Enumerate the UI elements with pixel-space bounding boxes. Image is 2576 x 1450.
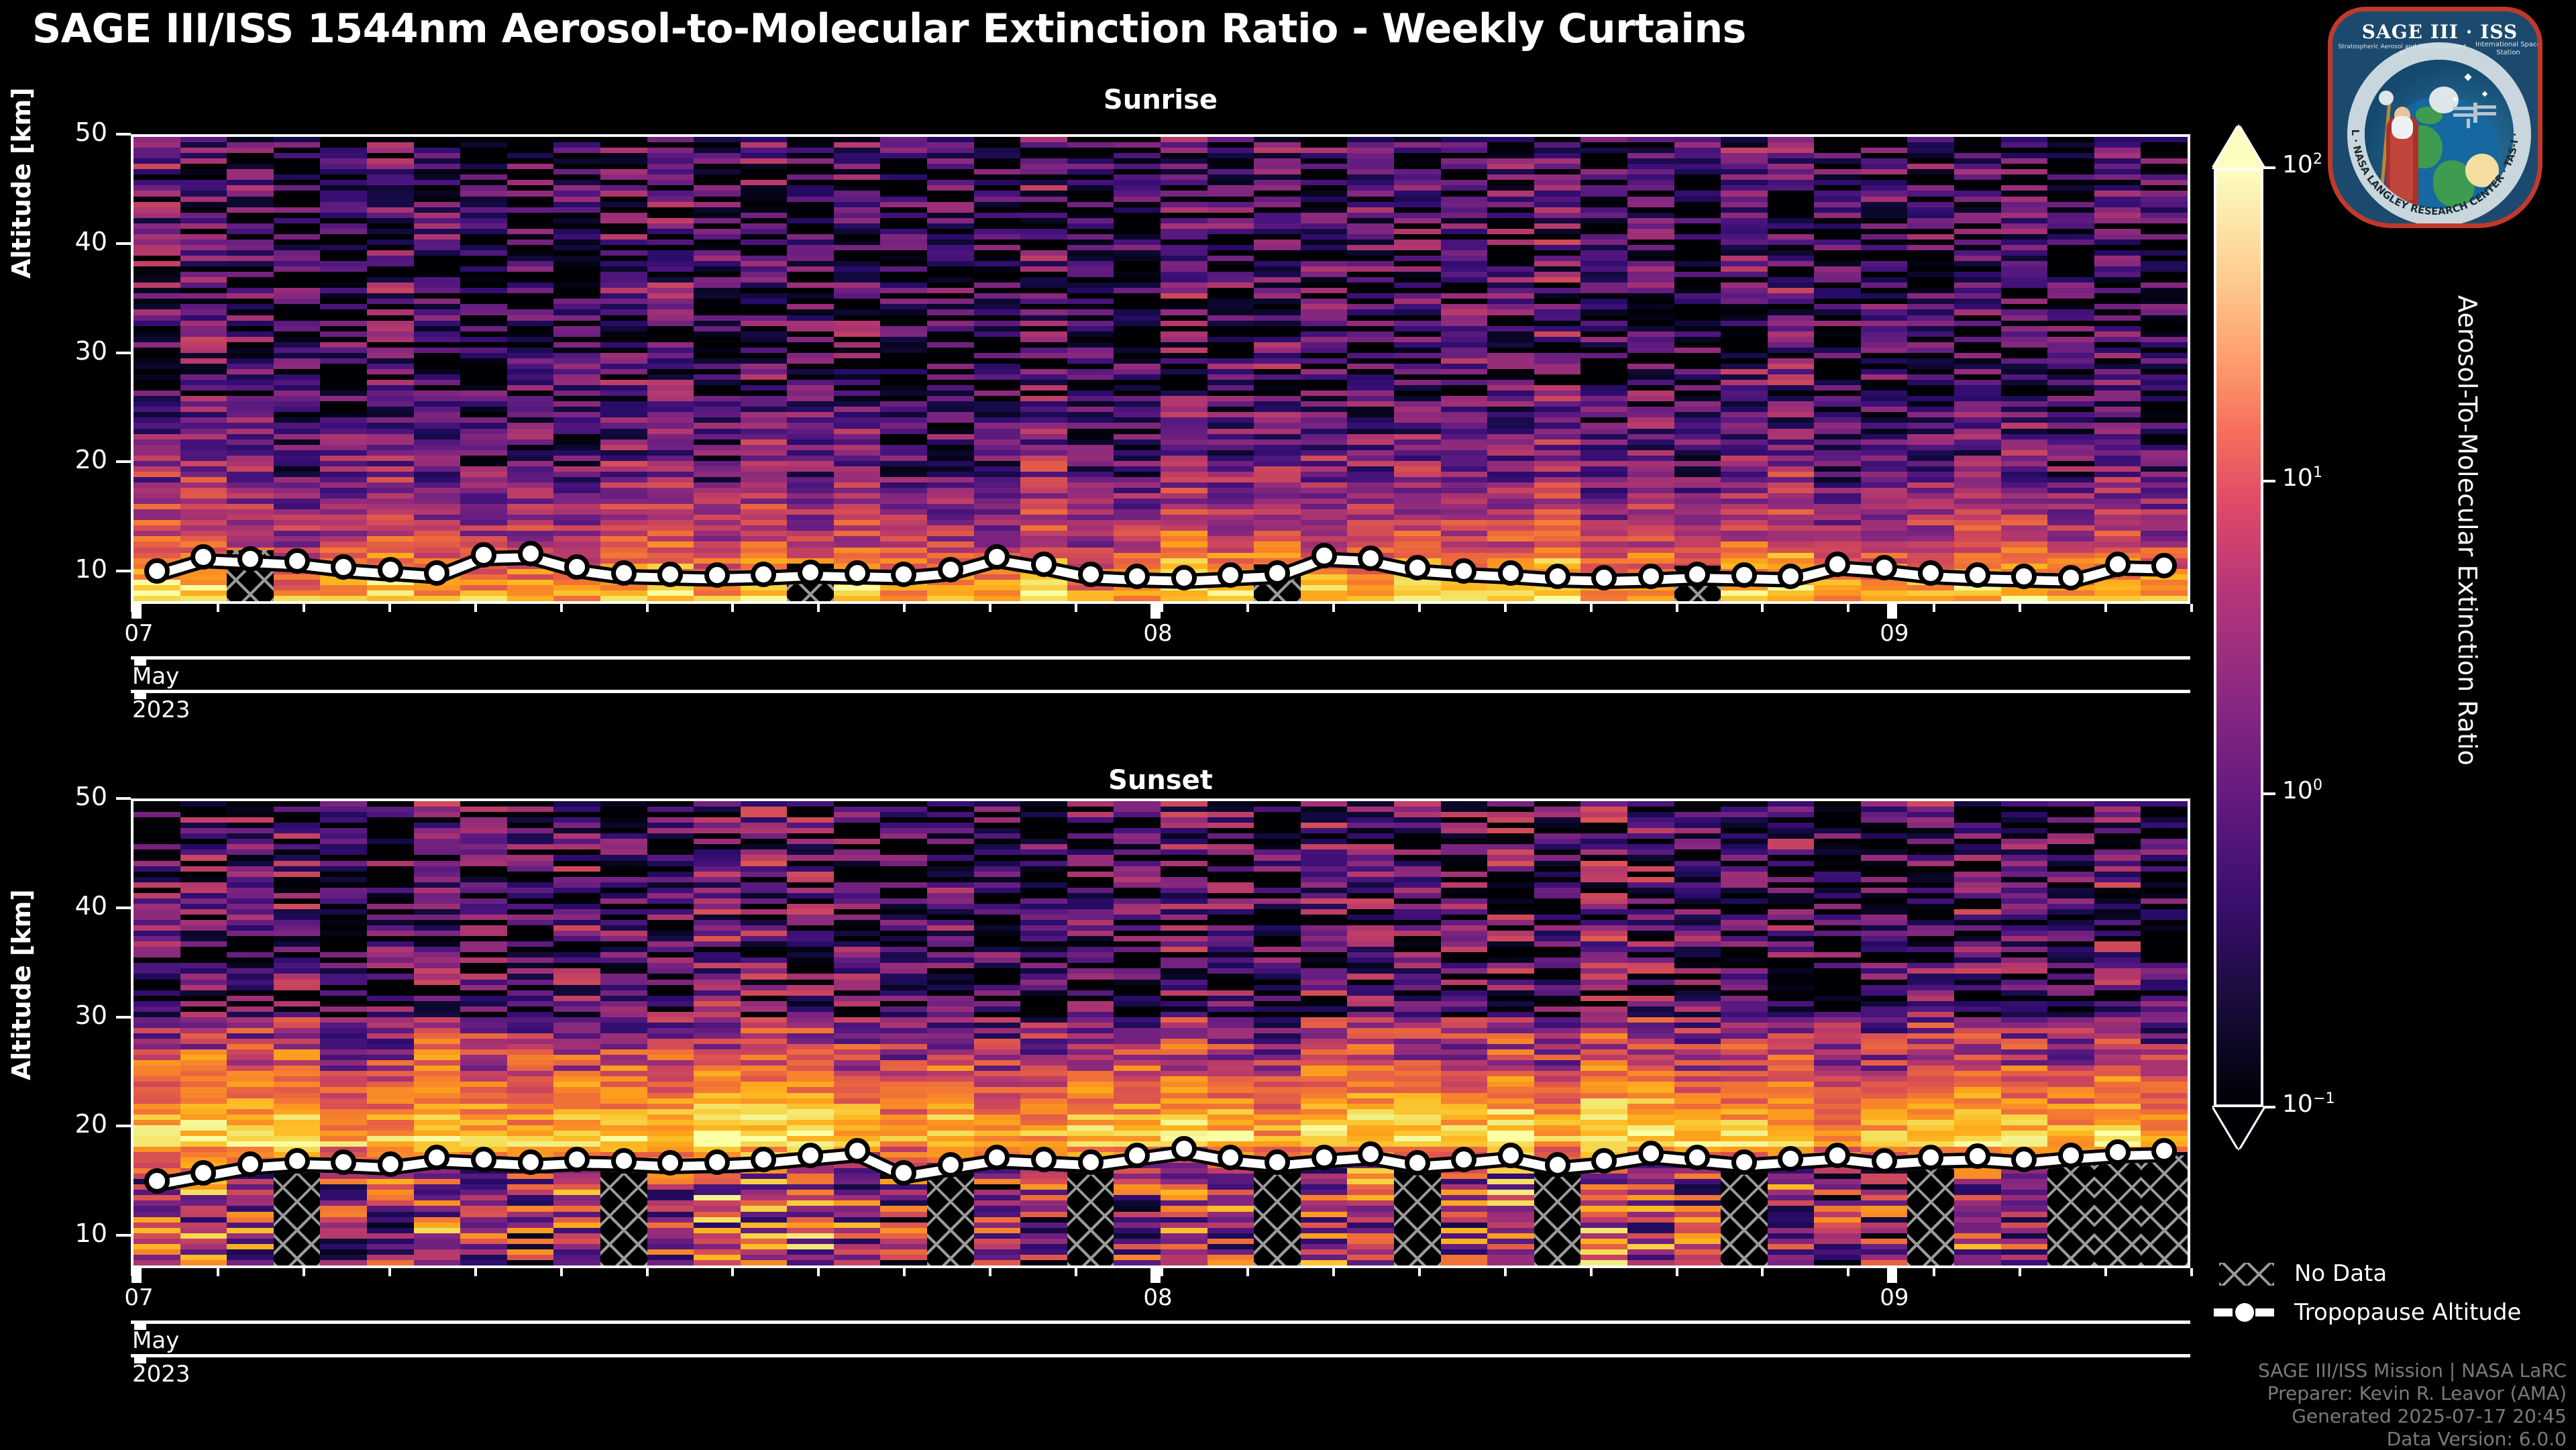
heatmap-column bbox=[1254, 137, 1301, 601]
heatmap-cell bbox=[414, 1260, 461, 1266]
tropopause-marker bbox=[331, 554, 356, 580]
heatmap-cell bbox=[880, 596, 927, 602]
heatmap-cell bbox=[1861, 596, 1908, 602]
heatmap-column bbox=[1907, 137, 1954, 601]
heatmap-cell bbox=[180, 596, 227, 602]
x-minor-tick bbox=[1075, 604, 1077, 612]
tropopause-marker bbox=[1965, 562, 1990, 588]
tropopause-marker bbox=[1451, 558, 1477, 584]
heatmap-column bbox=[320, 137, 367, 601]
y-tick-label: 40 bbox=[40, 893, 107, 919]
y-tick-mark bbox=[116, 907, 131, 909]
heatmap-cell bbox=[1114, 596, 1161, 602]
tropopause-marker bbox=[657, 562, 683, 587]
y-tick-mark bbox=[116, 1016, 131, 1019]
heatmap-cell bbox=[2001, 596, 2048, 602]
y-tick-label: 10 bbox=[40, 556, 107, 582]
heatmap-column bbox=[367, 137, 414, 601]
x-axis-group-label: 2023 bbox=[132, 696, 191, 723]
heatmap-column bbox=[1207, 137, 1254, 601]
y-tick-mark bbox=[116, 570, 131, 572]
x-tick-label: 07 bbox=[119, 620, 159, 647]
heatmap-column bbox=[507, 137, 554, 601]
heatmap-column bbox=[694, 137, 741, 601]
heatmap-column bbox=[1861, 137, 1908, 601]
heatmap-column bbox=[1161, 137, 1207, 601]
heatmap-cell bbox=[1721, 596, 1768, 602]
heatmap-column bbox=[880, 137, 927, 601]
tropopause-marker bbox=[284, 548, 310, 574]
x-tick-label: 09 bbox=[1874, 620, 1915, 647]
panel-title-sunrise: Sunrise bbox=[131, 85, 2190, 115]
heatmap-cell bbox=[647, 596, 694, 602]
y-tick-label: 20 bbox=[40, 447, 107, 472]
heatmap-cell bbox=[180, 1260, 227, 1266]
heatmap-column bbox=[1814, 137, 1861, 601]
heatmap-column bbox=[1580, 137, 1627, 601]
heatmap-column bbox=[741, 137, 788, 601]
y-tick-label: 50 bbox=[40, 784, 107, 809]
tropopause-marker bbox=[1591, 565, 1617, 590]
heatmap-column bbox=[974, 137, 1021, 601]
x-minor-tick bbox=[2019, 604, 2021, 612]
heatmap-column bbox=[1954, 137, 2001, 601]
x-minor-tick bbox=[1761, 604, 1764, 612]
heatmap-cell bbox=[133, 1260, 180, 1266]
tropopause-marker bbox=[1405, 555, 1430, 580]
tropopause-marker bbox=[471, 542, 496, 568]
heatmap-column bbox=[367, 801, 414, 1265]
heatmap-column bbox=[274, 137, 321, 601]
heatmap-cell bbox=[507, 1260, 554, 1266]
y-tick-label: 10 bbox=[40, 1221, 107, 1246]
y-tick-label: 20 bbox=[40, 1111, 107, 1137]
x-minor-tick bbox=[1504, 604, 1507, 612]
heatmap-column bbox=[2047, 137, 2094, 601]
heatmap-cell bbox=[834, 596, 881, 602]
heatmap-cell bbox=[927, 596, 974, 602]
y-tick-mark bbox=[116, 460, 131, 463]
x-minor-tick bbox=[217, 604, 219, 612]
x-minor-tick bbox=[989, 604, 991, 612]
tropopause-marker bbox=[1265, 560, 1290, 586]
x-minor-tick bbox=[474, 604, 477, 612]
tropopause-marker bbox=[1498, 560, 1523, 586]
heatmap-cell bbox=[460, 1260, 507, 1266]
y-tick-label: 30 bbox=[40, 1002, 107, 1028]
heatmap-column bbox=[2001, 137, 2048, 601]
tropopause-marker bbox=[237, 546, 263, 572]
heatmap-cell bbox=[1580, 596, 1627, 602]
no-data-region bbox=[600, 1165, 647, 1265]
heatmap-column bbox=[1487, 137, 1534, 601]
x-minor-tick bbox=[1847, 604, 1849, 612]
x-major-tick bbox=[1150, 604, 1161, 619]
tropopause-marker bbox=[1311, 543, 1337, 568]
heatmap-sunrise bbox=[131, 134, 2190, 604]
logo-partner-arc: BALL · NASA LANGLEY RESEARCH CENTER · TA… bbox=[2328, 7, 2542, 228]
heatmap-column bbox=[1347, 137, 1394, 601]
heatmap-column bbox=[1534, 137, 1581, 601]
tropopause-marker bbox=[1872, 555, 1897, 580]
heatmap-cell bbox=[1301, 596, 1348, 602]
heatmap-sunset bbox=[131, 798, 2190, 1268]
heatmap-column bbox=[1394, 137, 1441, 601]
x-minor-tick bbox=[1590, 604, 1593, 612]
heatmap-cell bbox=[2141, 596, 2188, 602]
heatmap-column bbox=[227, 137, 274, 601]
heatmap-cell bbox=[367, 596, 414, 602]
heatmap-cell bbox=[1441, 596, 1488, 602]
y-axis-label-sunrise: Altitude [km] bbox=[7, 87, 36, 278]
tropopause-marker bbox=[2105, 552, 2131, 577]
heatmap-cell bbox=[600, 596, 647, 602]
x-minor-tick bbox=[1161, 604, 1163, 612]
panel-title-sunset: Sunset bbox=[131, 765, 2190, 796]
heatmap-cell bbox=[553, 1260, 600, 1266]
tropopause-marker bbox=[1684, 562, 1710, 587]
heatmap-column bbox=[2094, 137, 2141, 601]
y-tick-label: 40 bbox=[40, 229, 107, 254]
heatmap-column bbox=[180, 801, 227, 1265]
x-axis-group-label: May bbox=[132, 663, 179, 690]
heatmap-column bbox=[320, 801, 367, 1265]
y-tick-mark bbox=[116, 352, 131, 354]
tropopause-marker bbox=[1124, 564, 1150, 589]
x-minor-tick bbox=[1332, 604, 1335, 612]
heatmap-column bbox=[2141, 137, 2188, 601]
heatmap-cell bbox=[1768, 596, 1815, 602]
tropopause-marker bbox=[378, 557, 403, 582]
tropopause-marker bbox=[144, 558, 170, 584]
tropopause-marker bbox=[1638, 564, 1664, 589]
tropopause-marker bbox=[2058, 565, 2084, 590]
heatmap-cell bbox=[694, 596, 741, 602]
heatmap-cell bbox=[1627, 596, 1674, 602]
heatmap-cell bbox=[133, 596, 180, 602]
x-minor-tick bbox=[1933, 604, 1935, 612]
heatmap-column bbox=[1674, 137, 1721, 601]
x-minor-tick bbox=[731, 604, 734, 612]
heatmap-cell bbox=[1394, 596, 1441, 602]
y-tick-label: 50 bbox=[40, 119, 107, 145]
y-tick-mark bbox=[116, 133, 131, 136]
heatmap-cell bbox=[1161, 596, 1207, 602]
x-axis-rule bbox=[131, 656, 2190, 660]
heatmap-cell bbox=[320, 1260, 367, 1266]
x-tick-label: 08 bbox=[1138, 620, 1178, 647]
x-minor-tick bbox=[817, 604, 820, 612]
heatmap-column bbox=[133, 137, 180, 601]
heatmap-cell bbox=[1907, 596, 1954, 602]
y-tick-mark bbox=[116, 1125, 131, 1127]
heatmap-cell bbox=[1954, 596, 2001, 602]
heatmap-cell bbox=[2047, 596, 2094, 602]
heatmap-column bbox=[507, 801, 554, 1265]
tropopause-marker bbox=[1545, 564, 1570, 589]
heatmap-cell bbox=[1487, 596, 1534, 602]
tropopause-marker bbox=[611, 560, 637, 586]
heatmap-cell bbox=[1067, 596, 1114, 602]
heatmap-cell bbox=[1347, 596, 1394, 602]
heatmap-column bbox=[834, 137, 881, 601]
heatmap-cell bbox=[367, 1260, 414, 1266]
tropopause-marker bbox=[1078, 562, 1104, 587]
tropopause-marker bbox=[1171, 565, 1197, 590]
heatmap-column bbox=[553, 801, 600, 1265]
tropopause-marker bbox=[518, 541, 543, 566]
heatmap-cell bbox=[320, 596, 367, 602]
heatmap-cell bbox=[1534, 596, 1581, 602]
x-minor-tick bbox=[1676, 604, 1678, 612]
x-minor-tick bbox=[303, 604, 305, 612]
tropopause-marker bbox=[1358, 546, 1383, 571]
y-tick-mark bbox=[116, 242, 131, 245]
x-major-tick bbox=[1887, 604, 1897, 619]
heatmap-cell bbox=[414, 596, 461, 602]
x-minor-tick bbox=[1246, 604, 1249, 612]
heatmap-column bbox=[1441, 137, 1488, 601]
heatmap-column bbox=[227, 801, 274, 1265]
tropopause-marker bbox=[564, 554, 590, 580]
heatmap-column bbox=[787, 137, 834, 601]
y-tick-mark bbox=[116, 797, 131, 800]
heatmap-column bbox=[553, 137, 600, 601]
heatmap-cell bbox=[741, 596, 788, 602]
tropopause-marker bbox=[1731, 562, 1757, 588]
heatmap-column bbox=[1114, 137, 1161, 601]
heatmap-column bbox=[414, 137, 461, 601]
heatmap-column bbox=[1721, 137, 1768, 601]
heatmap-column bbox=[647, 801, 694, 1265]
heatmap-cell bbox=[1020, 596, 1067, 602]
heatmap-column bbox=[600, 137, 647, 601]
sage-iss-mission-logo: SAGE III · ISS Stratospheric Aerosol and… bbox=[2321, 3, 2549, 234]
tropopause-marker bbox=[845, 560, 870, 586]
x-axis-rule bbox=[131, 690, 2190, 693]
heatmap-column bbox=[460, 137, 507, 601]
heatmap-cell bbox=[2094, 596, 2141, 602]
tropopause-marker bbox=[798, 560, 823, 585]
x-minor-tick bbox=[2190, 604, 2193, 612]
tropopause-marker bbox=[751, 562, 776, 587]
tropopause-marker bbox=[704, 562, 730, 588]
y-tick-mark bbox=[116, 1234, 131, 1237]
heatmap-cell bbox=[1207, 596, 1254, 602]
x-minor-tick bbox=[646, 604, 649, 612]
heatmap-cell bbox=[460, 596, 507, 602]
heatmap-column bbox=[1627, 137, 1674, 601]
heatmap-cell bbox=[507, 596, 554, 602]
page-title: SAGE III/ISS 1544nm Aerosol-to-Molecular… bbox=[32, 5, 1911, 52]
heatmap-cell bbox=[1814, 596, 1861, 602]
heatmap-column bbox=[414, 801, 461, 1265]
heatmap-column bbox=[460, 801, 507, 1265]
x-major-tick bbox=[131, 604, 142, 619]
no-data-region bbox=[274, 1165, 321, 1265]
heatmap-column bbox=[647, 137, 694, 601]
heatmap-cell bbox=[274, 596, 321, 602]
x-minor-tick bbox=[2104, 604, 2107, 612]
y-tick-label: 30 bbox=[40, 338, 107, 364]
heatmap-cell bbox=[974, 596, 1021, 602]
heatmap-column bbox=[1768, 137, 1815, 601]
y-axis-label-sunset: Altitude [km] bbox=[7, 889, 36, 1080]
heatmap-column bbox=[1067, 137, 1114, 601]
heatmap-column bbox=[180, 137, 227, 601]
x-minor-tick bbox=[388, 604, 391, 612]
x-minor-tick bbox=[560, 604, 563, 612]
heatmap-column bbox=[133, 801, 180, 1265]
heatmap-cell bbox=[227, 1260, 274, 1266]
heatmap-cell bbox=[553, 596, 600, 602]
x-minor-tick bbox=[903, 604, 906, 612]
tropopause-marker bbox=[891, 562, 916, 587]
heatmap-column bbox=[1020, 137, 1067, 601]
tropopause-marker bbox=[938, 557, 963, 582]
heatmap-column bbox=[927, 137, 974, 601]
heatmap-column bbox=[1301, 137, 1348, 601]
tropopause-marker bbox=[2151, 553, 2177, 578]
x-minor-tick bbox=[1418, 604, 1421, 612]
